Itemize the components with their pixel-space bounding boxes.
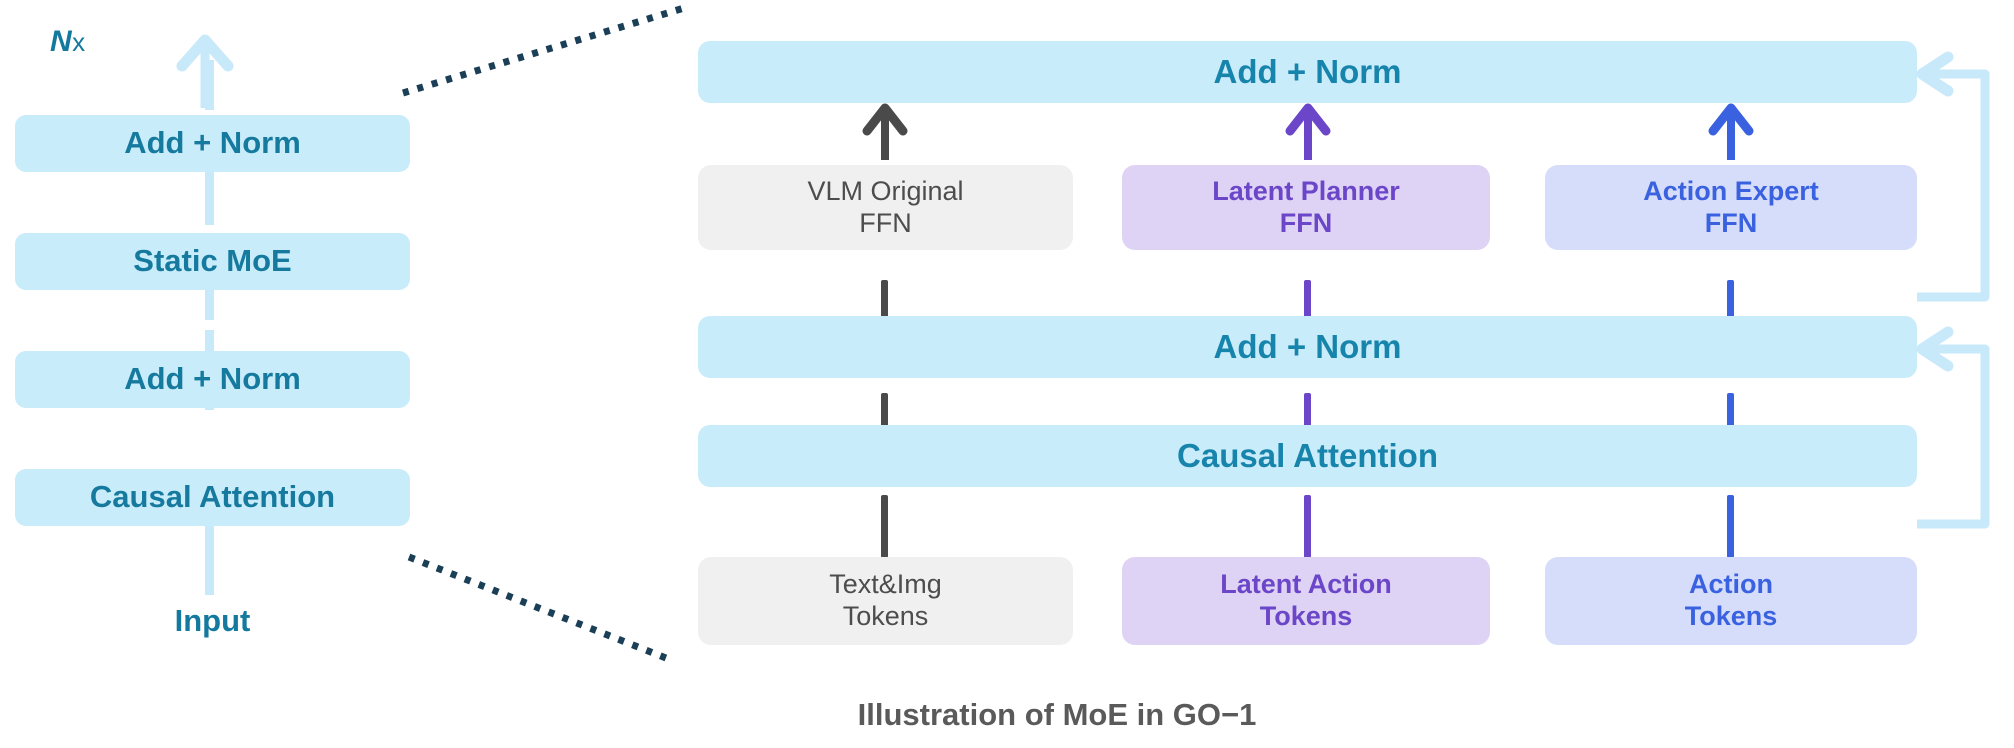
residual-connection-lower xyxy=(1917,332,1985,524)
arrow-up-action-expert-ffn-icon xyxy=(1713,108,1749,160)
left-block-static-moe[interactable]: Static MoE xyxy=(15,233,410,290)
connector-latent-tokens-to-attention xyxy=(1304,495,1311,558)
token-box-action[interactable]: Action Tokens xyxy=(1545,557,1917,645)
token-box-latent-action[interactable]: Latent Action Tokens xyxy=(1122,557,1490,645)
ffn-box-latent-planner[interactable]: Latent Planner FFN xyxy=(1122,165,1490,250)
dotted-connector-upper xyxy=(403,8,684,93)
connector-action-tokens-to-attention xyxy=(1727,495,1734,558)
left-input-label: Input xyxy=(15,603,410,639)
residual-connection-upper xyxy=(1917,57,1985,297)
left-spine-segment-top xyxy=(205,60,214,110)
repeat-count-times: x xyxy=(72,27,86,57)
arrow-up-latent-planner-ffn-icon xyxy=(1290,108,1326,160)
left-block-add-norm-top[interactable]: Add + Norm xyxy=(15,115,410,172)
figure-caption: Illustration of MoE in GO−1 xyxy=(607,697,1507,733)
right-bar-add-norm-top[interactable]: Add + Norm xyxy=(698,41,1917,103)
dotted-connector-lower xyxy=(409,557,666,658)
left-block-add-norm-bottom[interactable]: Add + Norm xyxy=(15,351,410,408)
ffn-box-action-expert[interactable]: Action Expert FFN xyxy=(1545,165,1917,250)
left-block-causal-attention[interactable]: Causal Attention xyxy=(15,469,410,526)
right-bar-causal-attention[interactable]: Causal Attention xyxy=(698,425,1917,487)
right-bar-add-norm-mid[interactable]: Add + Norm xyxy=(698,316,1917,378)
connector-vlm-tokens-to-attention xyxy=(881,495,888,558)
left-spine-segment-bottom xyxy=(205,520,214,595)
repeat-count-label: Nx xyxy=(50,25,86,59)
token-box-text-img[interactable]: Text&Img Tokens xyxy=(698,557,1073,645)
diagram-canvas: Nx Add + Norm Static MoE Add + Norm Caus… xyxy=(0,0,2014,748)
ffn-box-vlm-original[interactable]: VLM Original FFN xyxy=(698,165,1073,250)
arrow-up-vlm-ffn-icon xyxy=(867,108,903,160)
repeat-count-symbol: N xyxy=(50,25,72,58)
